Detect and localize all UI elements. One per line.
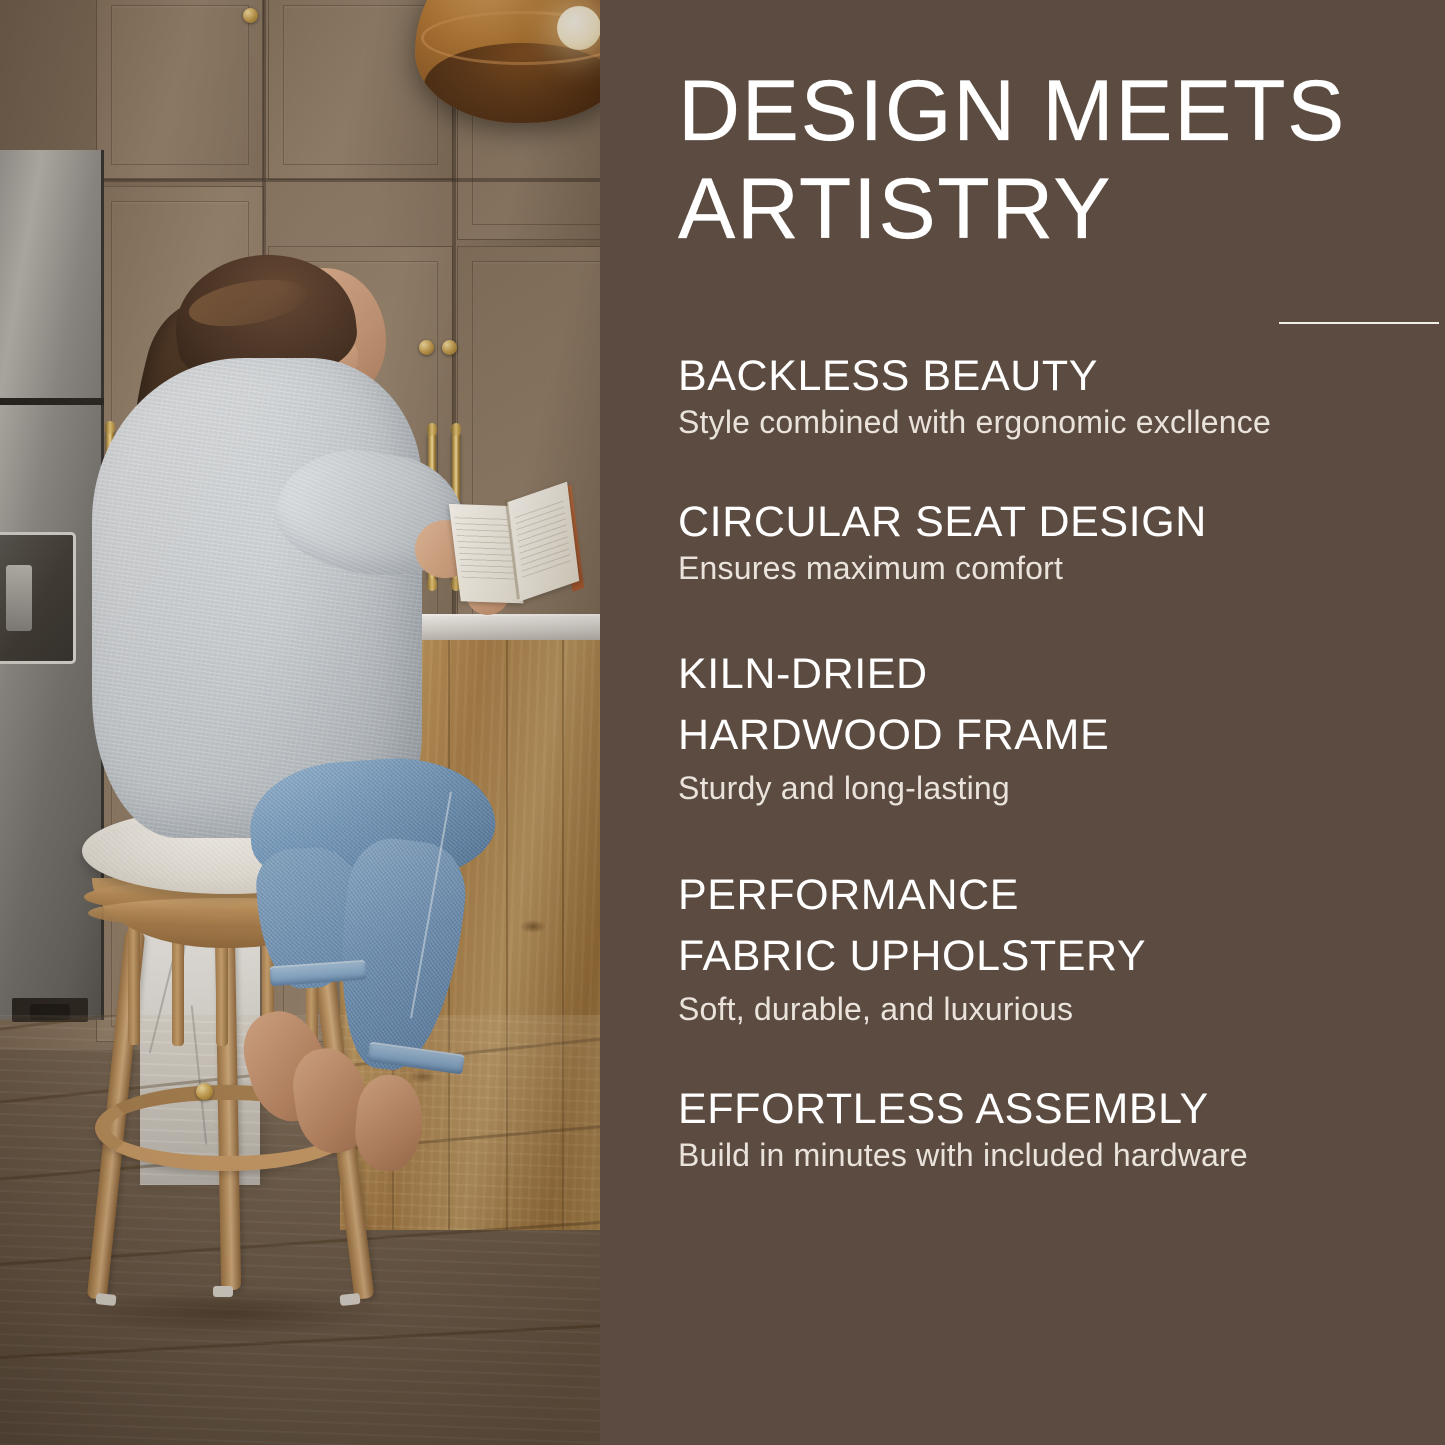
feature-heading: KILN-DRIED HARDWOOD FRAME — [678, 644, 1418, 766]
seated-woman — [0, 0, 600, 1445]
feature-list: BACKLESS BEAUTY Style combined with ergo… — [678, 352, 1418, 1231]
page-title: DESIGN MEETS ARTISTRY — [678, 62, 1418, 258]
feature-item-performance-fabric-upholstery: PERFORMANCE FABRIC UPHOLSTERY Soft, dura… — [678, 865, 1418, 1029]
feature-heading: EFFORTLESS ASSEMBLY — [678, 1085, 1418, 1133]
feature-item-backless-beauty: BACKLESS BEAUTY Style combined with ergo… — [678, 352, 1418, 442]
feature-subtext: Build in minutes with included hardware — [678, 1136, 1418, 1175]
feature-item-circular-seat-design: CIRCULAR SEAT DESIGN Ensures maximum com… — [678, 498, 1418, 588]
book-text-lines — [454, 516, 514, 579]
title-divider — [1279, 322, 1439, 324]
lifestyle-photo — [0, 0, 600, 1445]
feature-subtext: Ensures maximum comfort — [678, 549, 1418, 588]
feature-subtext: Style combined with ergonomic excllence — [678, 403, 1418, 442]
product-feature-graphic: DESIGN MEETS ARTISTRY BACKLESS BEAUTY St… — [0, 0, 1445, 1445]
feature-item-effortless-assembly: EFFORTLESS ASSEMBLY Build in minutes wit… — [678, 1085, 1418, 1175]
feature-heading: CIRCULAR SEAT DESIGN — [678, 498, 1418, 546]
feature-subtext: Sturdy and long-lasting — [678, 769, 1418, 808]
feature-subtext: Soft, durable, and luxurious — [678, 990, 1418, 1029]
open-book — [449, 488, 583, 612]
feature-heading: BACKLESS BEAUTY — [678, 352, 1418, 400]
feature-copy-panel: DESIGN MEETS ARTISTRY BACKLESS BEAUTY St… — [600, 0, 1445, 1445]
feature-item-kiln-dried-hardwood-frame: KILN-DRIED HARDWOOD FRAME Sturdy and lon… — [678, 644, 1418, 808]
feature-heading: PERFORMANCE FABRIC UPHOLSTERY — [678, 865, 1418, 987]
